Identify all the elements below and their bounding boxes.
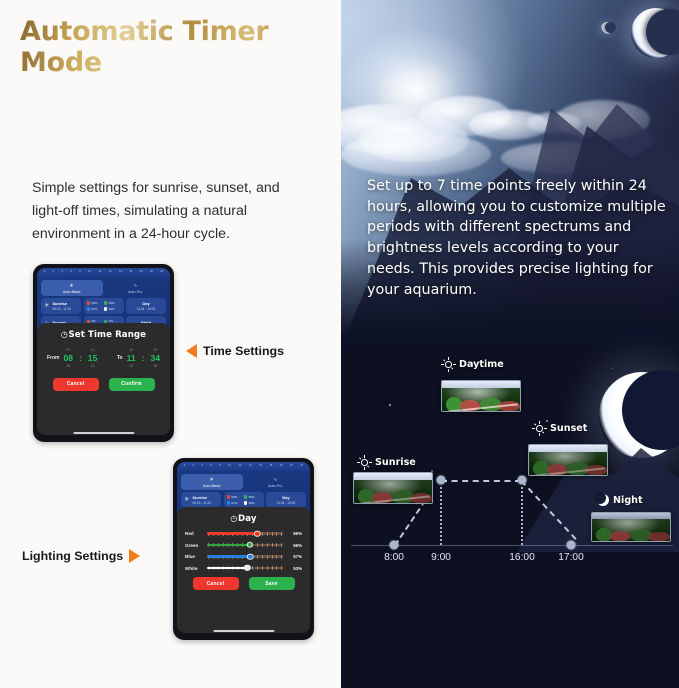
tank-water bbox=[592, 519, 670, 541]
dialog-buttons: Cancel Save bbox=[185, 577, 302, 590]
ruler-mark: 10 bbox=[228, 465, 231, 468]
slider-label-blue: Blue bbox=[185, 554, 202, 559]
cancel-button[interactable]: Cancel bbox=[193, 577, 239, 590]
period-card-day[interactable]: Day 11:34 - 15:00 bbox=[126, 298, 166, 314]
chip-red-value: 60% bbox=[91, 301, 97, 305]
slider-knob-white[interactable] bbox=[244, 565, 250, 571]
period-time: 08:15 - 11:34 bbox=[52, 307, 71, 311]
dialog-title-text: Set Time Range bbox=[68, 330, 146, 340]
ruler-mark: 4 bbox=[61, 271, 62, 274]
slider-track-blue[interactable] bbox=[207, 555, 283, 558]
ruler-mark: 18 bbox=[269, 465, 272, 468]
clock-icon: ◷ bbox=[230, 514, 237, 523]
ruler-mark: 20 bbox=[280, 465, 283, 468]
ruler-mark: 2 bbox=[193, 465, 194, 468]
node-16pm-top bbox=[518, 476, 527, 485]
callout-lighting-settings-label: Lighting Settings bbox=[22, 549, 123, 563]
tab-auto-basic[interactable]: ☀ Auto-Basic bbox=[41, 280, 103, 296]
tank-light-bar bbox=[354, 473, 432, 480]
label-sunrise: Sunrise bbox=[358, 456, 416, 469]
sun-icon: ☀ bbox=[181, 477, 243, 484]
cancel-button[interactable]: Cancel bbox=[53, 378, 99, 391]
period-card-sunrise[interactable]: ☀ Sunrise 08:15 - 11:34 bbox=[41, 298, 81, 314]
tank-preview-night bbox=[591, 512, 671, 542]
label-daytime-text: Daytime bbox=[459, 359, 504, 370]
ruler-mark: 24 bbox=[160, 271, 163, 274]
chip-red-value: 60% bbox=[231, 495, 237, 499]
left-panel: Automatic Timer Mode Simple settings for… bbox=[0, 0, 341, 688]
dialog-title: ◷Set Time Range bbox=[45, 330, 162, 340]
arrow-right-icon bbox=[129, 549, 140, 563]
tab-auto-basic[interactable]: ☀ Auto-Basic bbox=[181, 474, 243, 490]
slider-row-white[interactable]: White 53% bbox=[185, 566, 302, 571]
slider-list: Red 66% Green bbox=[185, 531, 302, 571]
time-axis bbox=[351, 545, 673, 546]
ruler-mark: 12 bbox=[98, 271, 101, 274]
chip-green-value: 56% bbox=[249, 495, 255, 499]
slider-knob-green[interactable] bbox=[246, 542, 252, 548]
from-minute-wheel[interactable]: 14 15 16 bbox=[88, 347, 98, 370]
ruler-mark: 14 bbox=[109, 271, 112, 274]
channel-chips-day[interactable]: 60% 56% 57% 53% bbox=[84, 298, 124, 314]
slider-row-blue[interactable]: Blue 57% bbox=[185, 554, 302, 559]
ruler-mark: 6 bbox=[210, 465, 211, 468]
tank-water bbox=[529, 452, 607, 475]
tab-auto-basic-label: Auto-Basic bbox=[63, 290, 80, 294]
right-panel: Set up to 7 time points freely within 24… bbox=[341, 0, 679, 688]
from-minute-value: 15 bbox=[88, 354, 98, 363]
sun-icon: ☀ bbox=[41, 283, 103, 290]
to-group: To 10 11 12 : 33 34 35 bbox=[117, 347, 160, 370]
sun-icon bbox=[358, 456, 371, 469]
period-time: 08:15 - 11:34 bbox=[192, 501, 211, 505]
ruler-mark: 20 bbox=[140, 271, 143, 274]
chip-blue-value: 57% bbox=[91, 307, 97, 311]
chip-blue: 57% bbox=[227, 501, 242, 505]
phone-mockup-time-settings: 0 2 4 6 8 10 12 14 16 18 20 22 24 ☀ Auto… bbox=[33, 264, 174, 442]
tank-preview-daytime bbox=[441, 380, 521, 412]
chip-red: 60% bbox=[87, 301, 102, 305]
hour-ruler: 0 2 4 6 8 10 12 14 16 18 20 22 24 bbox=[177, 462, 310, 471]
app-screen-time: 0 2 4 6 8 10 12 14 16 18 20 22 24 ☀ Auto… bbox=[37, 268, 170, 435]
clock-icon: ◷ bbox=[61, 330, 68, 339]
label-daytime: Daytime bbox=[442, 358, 504, 371]
to-hour-value: 11 bbox=[127, 354, 136, 363]
to-hour-next: 12 bbox=[127, 363, 136, 370]
ruler-mark: 4 bbox=[201, 465, 202, 468]
ruler-mark: 10 bbox=[88, 271, 91, 274]
time-picker: From 07 08 09 : 14 15 16 bbox=[45, 347, 162, 370]
slider-value-green: 56% bbox=[288, 543, 302, 548]
sunrise-icon: ☀ bbox=[184, 496, 189, 503]
period-row-1: ☀ Sunrise 08:15 - 11:34 60% 56% 57% 53% bbox=[181, 492, 306, 508]
to-label: To bbox=[117, 355, 123, 361]
sun-icon bbox=[533, 422, 546, 435]
dropline-16pm bbox=[521, 482, 523, 545]
from-hour-wheel[interactable]: 07 08 09 bbox=[64, 347, 74, 370]
hour-ruler: 0 2 4 6 8 10 12 14 16 18 20 22 24 bbox=[37, 268, 170, 277]
ruler-mark: 0 bbox=[44, 271, 45, 274]
slider-value-red: 66% bbox=[288, 531, 302, 536]
slider-track-white[interactable] bbox=[207, 567, 283, 570]
node-17pm bbox=[567, 541, 576, 550]
ruler-mark: 24 bbox=[300, 465, 303, 468]
tab-auto-basic-label: Auto-Basic bbox=[203, 484, 220, 488]
app-screen-lighting: 0 2 4 6 8 10 12 14 16 18 20 22 24 ☀ Auto… bbox=[177, 462, 310, 633]
page-title: Automatic Timer Mode bbox=[20, 16, 341, 78]
label-sunrise-text: Sunrise bbox=[375, 457, 416, 468]
slider-value-blue: 57% bbox=[288, 554, 302, 559]
tab-auto-pro[interactable]: ∿ Auto-Pro bbox=[245, 474, 307, 490]
timeline-chart: 8:00 9:00 16:00 17:00 Sunrise bbox=[341, 352, 679, 688]
period-time: 11:34 - 15:00 bbox=[137, 307, 156, 311]
save-button[interactable]: Save bbox=[249, 577, 295, 590]
wave-icon: ∿ bbox=[105, 283, 167, 290]
channel-chips-day[interactable]: 60% 56% 57% 53% bbox=[224, 492, 264, 508]
axis-tick-1: 9:00 bbox=[431, 552, 451, 563]
arrow-left-icon bbox=[186, 344, 197, 358]
to-colon: : bbox=[142, 354, 145, 363]
ruler-mark: 0 bbox=[184, 465, 185, 468]
slider-row-green[interactable]: Green 56% bbox=[185, 543, 302, 548]
period-row-1: ☀ Sunrise 08:15 - 11:34 60% 56% 57% 53% bbox=[41, 298, 166, 314]
set-time-range-dialog: ◷Set Time Range From 07 08 09 : bbox=[37, 323, 170, 435]
callout-lighting-settings: Lighting Settings bbox=[22, 549, 140, 563]
slider-knob-blue[interactable] bbox=[247, 553, 253, 559]
home-indicator bbox=[73, 432, 134, 435]
axis-tick-0: 8:00 bbox=[384, 552, 404, 563]
tab-auto-pro-label: Auto-Pro bbox=[128, 290, 142, 294]
sunrise-icon: ☀ bbox=[44, 302, 49, 309]
ruler-mark: 2 bbox=[53, 271, 54, 274]
from-minute-next: 16 bbox=[88, 363, 98, 370]
sun-icon bbox=[442, 358, 455, 371]
right-paragraph: Set up to 7 time points freely within 24… bbox=[367, 176, 667, 300]
ruler-mark: 16 bbox=[119, 271, 122, 274]
dialog-title: ◷Day bbox=[185, 514, 302, 524]
slider-label-red: Red bbox=[185, 531, 202, 536]
to-minute-wheel[interactable]: 33 34 35 bbox=[150, 347, 160, 370]
ruler-mark: 14 bbox=[249, 465, 252, 468]
period-card-list: ☀ Sunrise 08:15 - 11:34 60% 56% 57% 53% bbox=[177, 492, 310, 508]
slider-track-red[interactable] bbox=[207, 532, 283, 535]
ruler-mark: 12 bbox=[238, 465, 241, 468]
to-minute-next: 35 bbox=[150, 363, 160, 370]
moon-icon bbox=[597, 494, 609, 506]
chip-green-value: 56% bbox=[109, 301, 115, 305]
chip-white: 53% bbox=[104, 307, 119, 311]
chip-white-value: 53% bbox=[249, 501, 255, 505]
confirm-button[interactable]: Confirm bbox=[109, 378, 155, 391]
ruler-mark: 8 bbox=[79, 271, 80, 274]
slider-label-white: White bbox=[185, 566, 202, 571]
chip-blue-value: 57% bbox=[231, 501, 237, 505]
label-night-text: Night bbox=[613, 495, 643, 506]
ruler-mark: 22 bbox=[150, 271, 153, 274]
phone-mockup-lighting-settings: 0 2 4 6 8 10 12 14 16 18 20 22 24 ☀ Auto… bbox=[173, 458, 314, 640]
slider-label-green: Green bbox=[185, 543, 202, 548]
label-sunset-text: Sunset bbox=[550, 423, 587, 434]
from-group: From 07 08 09 : 14 15 16 bbox=[47, 347, 97, 370]
tank-light-bar bbox=[442, 381, 520, 388]
callout-time-settings: Time Settings bbox=[186, 344, 284, 358]
label-night: Night bbox=[597, 494, 643, 506]
ruler-mark: 22 bbox=[290, 465, 293, 468]
ruler-mark: 8 bbox=[219, 465, 220, 468]
tank-water bbox=[442, 388, 520, 411]
ruler-mark: 16 bbox=[259, 465, 262, 468]
home-indicator bbox=[213, 630, 274, 633]
tab-auto-pro[interactable]: ∿ Auto-Pro bbox=[105, 280, 167, 296]
slider-value-white: 53% bbox=[288, 566, 302, 571]
chip-green: 56% bbox=[244, 495, 259, 499]
node-8am bbox=[390, 541, 399, 550]
chip-white: 53% bbox=[244, 501, 259, 505]
period-time: 11:34 - 15:00 bbox=[277, 501, 296, 505]
tank-preview-sunrise bbox=[353, 472, 433, 504]
tank-water bbox=[354, 480, 432, 503]
tank-light-bar bbox=[529, 445, 607, 452]
wave-icon: ∿ bbox=[245, 477, 307, 484]
crescent-moon-icon bbox=[631, 8, 679, 58]
from-hour-value: 08 bbox=[64, 354, 74, 363]
chip-blue: 57% bbox=[87, 307, 102, 311]
dialog-title-text: Day bbox=[238, 514, 257, 524]
callout-time-settings-label: Time Settings bbox=[203, 344, 284, 358]
dropline-9am bbox=[440, 482, 442, 545]
ruler-mark: 18 bbox=[129, 271, 132, 274]
period-card-sunrise[interactable]: ☀ Sunrise 08:15 - 11:34 bbox=[181, 492, 221, 508]
tab-auto-pro-label: Auto-Pro bbox=[268, 484, 282, 488]
to-hour-wheel[interactable]: 10 11 12 bbox=[127, 347, 136, 370]
from-colon: : bbox=[79, 354, 82, 363]
label-sunset: Sunset bbox=[533, 422, 587, 435]
mode-tabbar: ☀ Auto-Basic ∿ Auto-Pro bbox=[37, 277, 170, 298]
slider-track-green[interactable] bbox=[207, 544, 283, 547]
tank-preview-sunset bbox=[528, 444, 608, 476]
chip-white-value: 53% bbox=[109, 307, 115, 311]
axis-tick-2: 16:00 bbox=[509, 552, 535, 563]
dialog-buttons: Cancel Confirm bbox=[45, 378, 162, 391]
mode-tabbar: ☀ Auto-Basic ∿ Auto-Pro bbox=[177, 471, 310, 492]
slider-row-red[interactable]: Red 66% bbox=[185, 531, 302, 536]
chip-green: 56% bbox=[104, 301, 119, 305]
slider-knob-red[interactable] bbox=[254, 530, 260, 536]
from-hour-next: 09 bbox=[64, 363, 74, 370]
segment-daytime-plateau bbox=[441, 480, 521, 482]
small-crescent-moon-icon bbox=[601, 22, 613, 34]
intro-paragraph: Simple settings for sunrise, sunset, and… bbox=[32, 177, 307, 246]
to-minute-value: 34 bbox=[150, 354, 160, 363]
lighting-settings-dialog: ◷Day Red 66% Green bbox=[177, 507, 310, 633]
from-label: From bbox=[47, 355, 60, 361]
ruler-mark: 6 bbox=[70, 271, 71, 274]
chip-red: 60% bbox=[227, 495, 242, 499]
period-card-day[interactable]: Day 11:34 - 15:00 bbox=[266, 492, 306, 508]
axis-tick-3: 17:00 bbox=[558, 552, 584, 563]
node-9am-top bbox=[437, 476, 446, 485]
